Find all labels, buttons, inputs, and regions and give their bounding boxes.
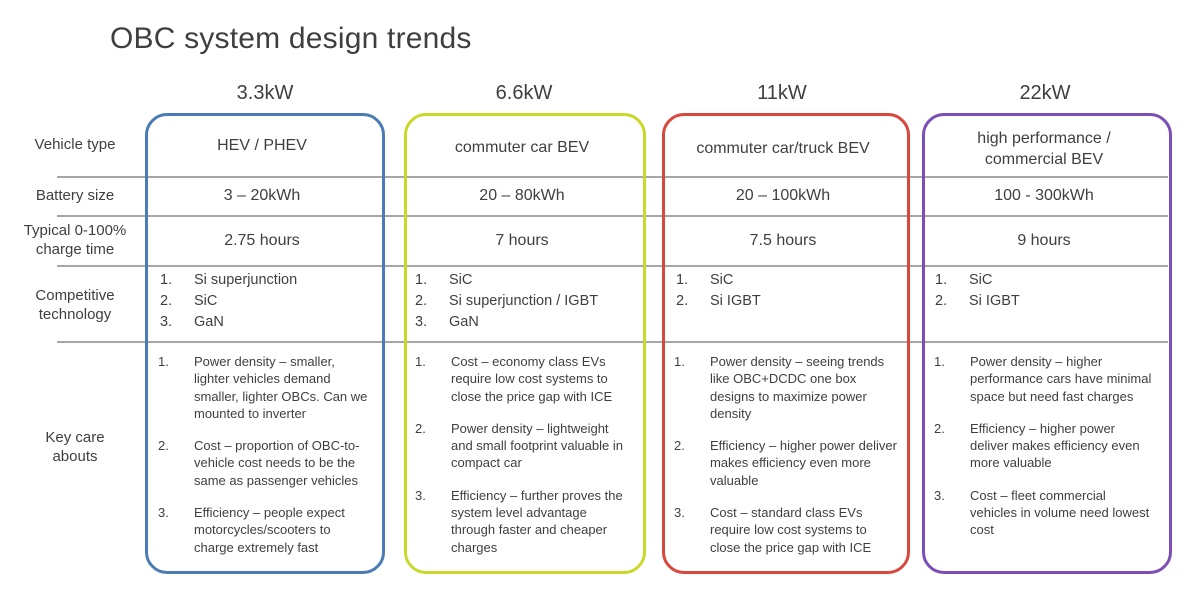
- row-label-keycare-line1: Key care: [0, 429, 150, 448]
- cell-competitive-technology-6-6kw: 1.SiC 2.Si superjunction / IGBT 3.GaN: [415, 272, 637, 335]
- row-label-charge-time-line1: Typical 0-100%: [0, 222, 150, 241]
- list-marker: 1.: [158, 353, 194, 370]
- page-title: OBC system design trends: [110, 22, 472, 56]
- row-label-charge-time-line2: charge time: [0, 241, 150, 260]
- cell-competitive-technology-3-3kw: 1.Si superjunction 2.SiC 3.GaN: [160, 272, 375, 335]
- cell-vehicle-type-3-3kw: HEV / PHEV: [148, 136, 376, 157]
- cell-vehicle-type-22kw: high performance / commercial BEV: [925, 129, 1163, 171]
- list-item: 1.SiC: [676, 272, 898, 288]
- list-item: 2.Cost – proportion of OBC-to-vehicle co…: [158, 437, 372, 489]
- row-label-charge-time: Typical 0-100% charge time: [0, 222, 150, 260]
- list-text: GaN: [194, 314, 375, 330]
- list-item: 2.Efficiency – higher power deliver make…: [674, 437, 898, 489]
- list-item: 3.GaN: [160, 314, 375, 330]
- cell-vehicle-type-6-6kw: commuter car BEV: [407, 138, 637, 159]
- list-item: 1.Power density – seeing trends like OBC…: [674, 353, 898, 422]
- list-marker: 2.: [415, 293, 449, 309]
- list-text: Cost – economy class EVs require low cos…: [451, 353, 633, 405]
- list-item: 1.SiC: [415, 272, 637, 288]
- list-item: 2.Power density – lightweight and small …: [415, 420, 633, 472]
- cell-charge-time-11kw: 7.5 hours: [665, 231, 901, 252]
- list-marker: 1.: [674, 353, 710, 370]
- list-text: Si IGBT: [969, 293, 1159, 309]
- list-item: 2.SiC: [160, 293, 375, 309]
- column-header-11kw: 11kW: [662, 80, 902, 106]
- cell-battery-size-22kw: 100 - 300kWh: [925, 186, 1163, 207]
- list-item: 3.Cost – fleet commercial vehicles in vo…: [934, 487, 1156, 539]
- list-item: 2.Si superjunction / IGBT: [415, 293, 637, 309]
- list-marker: 1.: [415, 353, 451, 370]
- list-item: 1.Power density – higher performance car…: [934, 353, 1156, 405]
- list-marker: 2.: [934, 420, 970, 437]
- column-header-22kw: 22kW: [922, 80, 1168, 106]
- row-label-competitive-technology: Competitive technology: [0, 287, 150, 325]
- list-marker: 2.: [674, 437, 710, 454]
- list-text: Si IGBT: [710, 293, 898, 309]
- list-marker: 1.: [676, 272, 710, 288]
- cell-charge-time-6-6kw: 7 hours: [407, 231, 637, 252]
- list-text: Efficiency – people expect motorcycles/s…: [194, 504, 372, 556]
- list-item: 3.GaN: [415, 314, 637, 330]
- cell-charge-time-22kw: 9 hours: [925, 231, 1163, 252]
- row-label-vehicle-type: Vehicle type: [0, 136, 150, 155]
- row-separator-3: [57, 265, 1168, 267]
- column-header-3-3kw: 3.3kW: [145, 80, 385, 106]
- cell-vehicle-type-22kw-line2: commercial BEV: [925, 150, 1163, 171]
- list-text: SiC: [194, 293, 375, 309]
- cell-competitive-technology-11kw: 1.SiC 2.Si IGBT: [676, 272, 898, 314]
- list-text: Cost – fleet commercial vehicles in volu…: [970, 487, 1156, 539]
- row-label-battery-size: Battery size: [0, 187, 150, 206]
- list-marker: 2.: [160, 293, 194, 309]
- list-text: Power density – higher performance cars …: [970, 353, 1156, 405]
- cell-charge-time-3-3kw: 2.75 hours: [148, 231, 376, 252]
- list-text: Power density – seeing trends like OBC+D…: [710, 353, 898, 422]
- cell-key-care-abouts-3-3kw: 1.Power density – smaller, lighter vehic…: [158, 353, 372, 571]
- row-label-competitive-line2: technology: [0, 306, 150, 325]
- list-text: Power density – lightweight and small fo…: [451, 420, 633, 472]
- list-item: 3.Cost – standard class EVs require low …: [674, 504, 898, 556]
- list-marker: 1.: [160, 272, 194, 288]
- list-text: Power density – smaller, lighter vehicle…: [194, 353, 372, 422]
- cell-battery-size-6-6kw: 20 – 80kWh: [407, 186, 637, 207]
- cell-battery-size-11kw: 20 – 100kWh: [665, 186, 901, 207]
- cell-key-care-abouts-6-6kw: 1.Cost – economy class EVs require low c…: [415, 353, 633, 571]
- list-item: 1.Cost – economy class EVs require low c…: [415, 353, 633, 405]
- list-item: 1.Si superjunction: [160, 272, 375, 288]
- list-item: 3.Efficiency – further proves the system…: [415, 487, 633, 556]
- list-text: Cost – standard class EVs require low co…: [710, 504, 898, 556]
- list-text: SiC: [449, 272, 637, 288]
- row-label-competitive-line1: Competitive: [0, 287, 150, 306]
- cell-vehicle-type-22kw-line1: high performance /: [925, 129, 1163, 150]
- list-item: 2.Si IGBT: [676, 293, 898, 309]
- column-header-6-6kw: 6.6kW: [404, 80, 644, 106]
- list-marker: 3.: [934, 487, 970, 504]
- list-text: Efficiency – further proves the system l…: [451, 487, 633, 556]
- list-item: 1.Power density – smaller, lighter vehic…: [158, 353, 372, 422]
- list-text: GaN: [449, 314, 637, 330]
- list-marker: 3.: [415, 314, 449, 330]
- list-text: SiC: [969, 272, 1159, 288]
- cell-vehicle-type-11kw: commuter car/truck BEV: [665, 139, 901, 160]
- list-marker: 2.: [935, 293, 969, 309]
- list-item: 1.SiC: [935, 272, 1159, 288]
- list-marker: 3.: [158, 504, 194, 521]
- slide-canvas: OBC system design trends 3.3kW 6.6kW 11k…: [0, 0, 1200, 600]
- list-marker: 2.: [415, 420, 451, 437]
- cell-key-care-abouts-11kw: 1.Power density – seeing trends like OBC…: [674, 353, 898, 571]
- cell-competitive-technology-22kw: 1.SiC 2.Si IGBT: [935, 272, 1159, 314]
- list-text: Efficiency – higher power deliver makes …: [970, 420, 1156, 472]
- list-text: SiC: [710, 272, 898, 288]
- list-marker: 3.: [160, 314, 194, 330]
- list-text: Efficiency – higher power deliver makes …: [710, 437, 898, 489]
- list-item: 2.Si IGBT: [935, 293, 1159, 309]
- list-marker: 3.: [415, 487, 451, 504]
- list-marker: 2.: [158, 437, 194, 454]
- list-item: 3.Efficiency – people expect motorcycles…: [158, 504, 372, 556]
- row-label-keycare-line2: abouts: [0, 448, 150, 467]
- row-separator-4: [57, 341, 1168, 343]
- list-text: Cost – proportion of OBC-to-vehicle cost…: [194, 437, 372, 489]
- cell-key-care-abouts-22kw: 1.Power density – higher performance car…: [934, 353, 1156, 554]
- list-marker: 1.: [415, 272, 449, 288]
- list-item: 2.Efficiency – higher power deliver make…: [934, 420, 1156, 472]
- cell-battery-size-3-3kw: 3 – 20kWh: [148, 186, 376, 207]
- list-text: Si superjunction / IGBT: [449, 293, 637, 309]
- list-marker: 3.: [674, 504, 710, 521]
- list-text: Si superjunction: [194, 272, 375, 288]
- list-marker: 2.: [676, 293, 710, 309]
- row-separator-2: [57, 215, 1168, 217]
- row-label-key-care-abouts: Key care abouts: [0, 429, 150, 467]
- list-marker: 1.: [935, 272, 969, 288]
- row-separator-1: [57, 176, 1168, 178]
- list-marker: 1.: [934, 353, 970, 370]
